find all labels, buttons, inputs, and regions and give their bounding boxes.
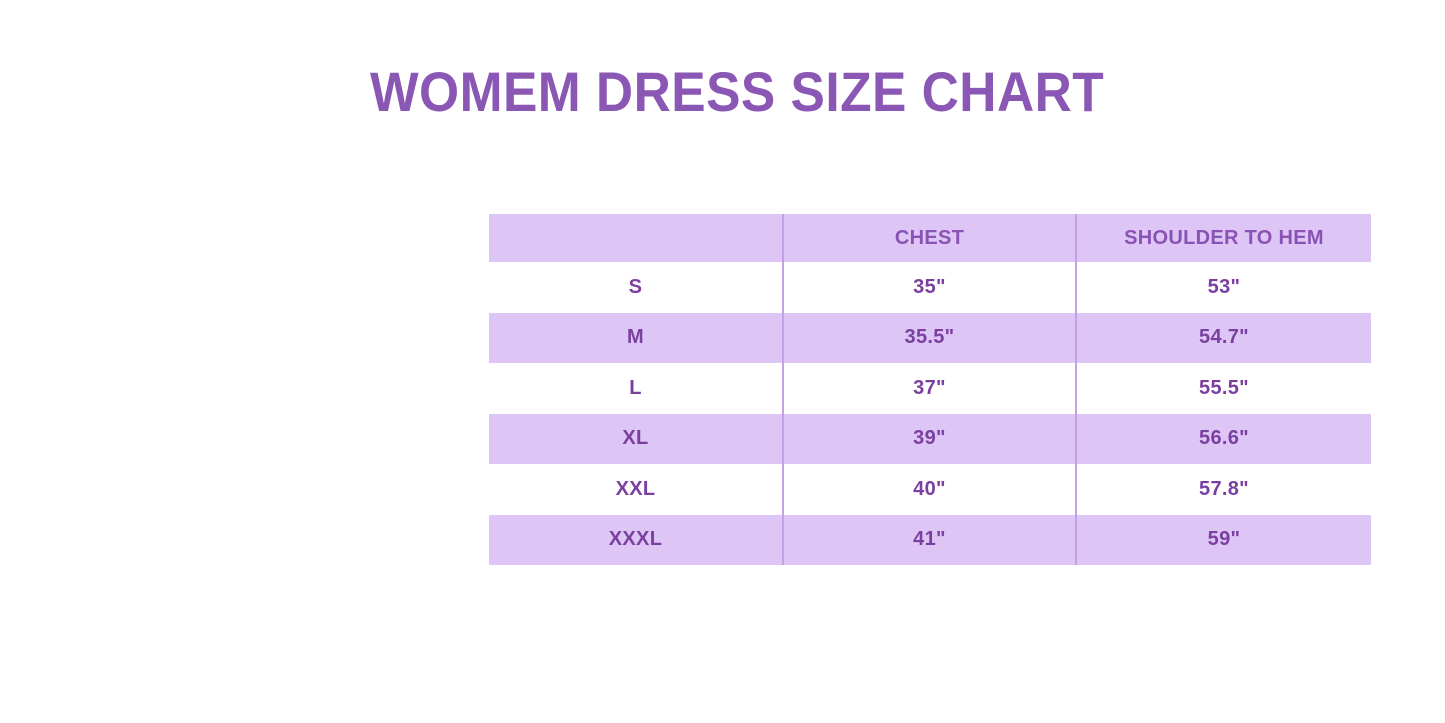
cell-shoulder-to-hem: 57.8"	[1076, 464, 1371, 515]
size-chart-page: WOMEM DRESS SIZE CHART CHEST SHOULDER TO…	[0, 0, 1445, 723]
cell-shoulder-to-hem: 59"	[1076, 515, 1371, 566]
cell-shoulder-to-hem: 54.7"	[1076, 313, 1371, 364]
table-row: XXXL 41" 59"	[489, 515, 1371, 566]
cell-chest: 37"	[783, 363, 1076, 414]
table-header-row: CHEST SHOULDER TO HEM	[489, 214, 1371, 262]
cell-chest: 35.5"	[783, 313, 1076, 364]
cell-size: S	[489, 262, 783, 313]
column-header-chest: CHEST	[783, 214, 1076, 262]
column-header-shoulder-to-hem: SHOULDER TO HEM	[1076, 214, 1371, 262]
cell-shoulder-to-hem: 56.6"	[1076, 414, 1371, 465]
table-body: S 35" 53" M 35.5" 54.7" L 37" 55.5" XL 3…	[489, 262, 1371, 565]
table-row: XXL 40" 57.8"	[489, 464, 1371, 515]
table-row: M 35.5" 54.7"	[489, 313, 1371, 364]
cell-chest: 35"	[783, 262, 1076, 313]
cell-size: XXXL	[489, 515, 783, 566]
cell-chest: 39"	[783, 414, 1076, 465]
table-row: XL 39" 56.6"	[489, 414, 1371, 465]
cell-size: XXL	[489, 464, 783, 515]
cell-chest: 41"	[783, 515, 1076, 566]
cell-shoulder-to-hem: 55.5"	[1076, 363, 1371, 414]
page-title: WOMEM DRESS SIZE CHART	[72, 56, 1401, 128]
cell-shoulder-to-hem: 53"	[1076, 262, 1371, 313]
cell-size: M	[489, 313, 783, 364]
table-row: S 35" 53"	[489, 262, 1371, 313]
table-header: CHEST SHOULDER TO HEM	[489, 214, 1371, 262]
column-header-size	[489, 214, 783, 262]
table-row: L 37" 55.5"	[489, 363, 1371, 414]
cell-chest: 40"	[783, 464, 1076, 515]
cell-size: L	[489, 363, 783, 414]
cell-size: XL	[489, 414, 783, 465]
size-chart-table: CHEST SHOULDER TO HEM S 35" 53" M 35.5" …	[489, 214, 1371, 565]
